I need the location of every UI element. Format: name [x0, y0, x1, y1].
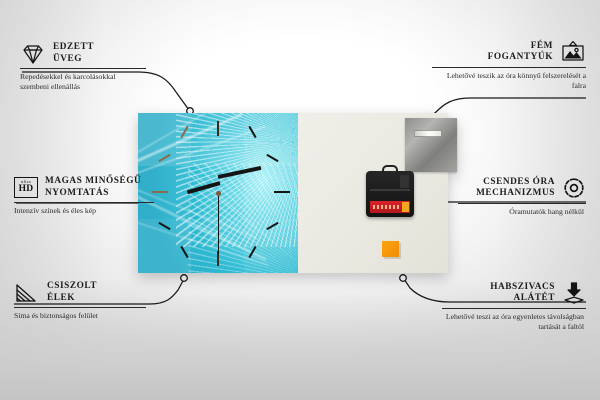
- callout-description: Intenzív színek és éles kép: [14, 206, 159, 216]
- battery: [370, 201, 410, 213]
- callout-high-quality-print: ultra HD MAGAS MINŐSÉGŰ NYOMTATÁS Intenz…: [14, 176, 174, 216]
- callout-divider: [442, 308, 586, 309]
- callout-title: CSENDES ÓRA MECHANIZMUS: [458, 177, 555, 200]
- foam-pad-arrow-icon: [562, 281, 586, 305]
- callout-description: Lehetővé teszi az óra egyenletes távolsá…: [442, 312, 584, 331]
- callout-silent-mechanism: CSENDES ÓRA MECHANIZMUS Óramutatók hang …: [458, 176, 586, 217]
- callout-metal-handles: FÉM FOGANTYÚK Lehetővé teszik az óra kön…: [432, 40, 586, 90]
- hanger-slot: [414, 130, 442, 137]
- gear-icon: [562, 176, 586, 200]
- mechanism-hanger-loop: [382, 165, 398, 174]
- callout-title: MAGAS MINŐSÉGŰ NYOMTATÁS: [45, 176, 141, 199]
- ultra-hd-icon-main-text: HD: [19, 185, 34, 195]
- callout-divider: [14, 307, 146, 308]
- hour-marker: [217, 121, 219, 136]
- clock-center-cap: [216, 191, 221, 196]
- mechanism-notch: [400, 175, 409, 188]
- picture-hanger-icon: [560, 40, 586, 64]
- second-hand: [218, 193, 220, 255]
- diamond-icon: [20, 43, 46, 65]
- callout-foam-pad: HABSZIVACS ALÁTÉT Lehetővé teszi az óra …: [442, 281, 586, 331]
- callout-description: Lehetővé teszik az óra könnyű felszerelé…: [436, 71, 586, 90]
- ultra-hd-icon: ultra HD: [14, 177, 38, 198]
- callout-divider: [20, 68, 146, 69]
- callout-description: Sima és biztonságos felület: [14, 311, 146, 321]
- hour-marker: [274, 191, 290, 193]
- callout-title: FÉM FOGANTYÚK: [432, 41, 553, 64]
- battery-terminal: [402, 202, 409, 212]
- callout-polished-edges: CSISZOLT ÉLEK Sima és biztonságos felüle…: [14, 281, 154, 321]
- foam-spacer-pad: [382, 241, 399, 257]
- clock-mechanism: [366, 171, 414, 217]
- callout-divider: [432, 67, 586, 68]
- metal-hanger-plate: [405, 118, 457, 172]
- callout-divider: [14, 202, 154, 203]
- callout-tempered-glass: EDZETT ÜVEG Repedésekkel és karcolásokka…: [20, 42, 168, 91]
- callout-title: CSISZOLT ÉLEK: [47, 281, 97, 304]
- product-image: [138, 113, 448, 273]
- callout-description: Repedésekkel és karcolásokkal szembeni e…: [20, 72, 144, 91]
- mechanism-seam: [370, 189, 410, 191]
- callout-title: EDZETT ÜVEG: [53, 42, 94, 65]
- callout-description: Óramutatók hang nélkül: [458, 207, 584, 217]
- polished-edge-icon: [14, 282, 40, 304]
- battery-label: [373, 205, 399, 209]
- callout-title: HABSZIVACS ALÁTÉT: [442, 282, 555, 305]
- callout-divider: [458, 203, 586, 204]
